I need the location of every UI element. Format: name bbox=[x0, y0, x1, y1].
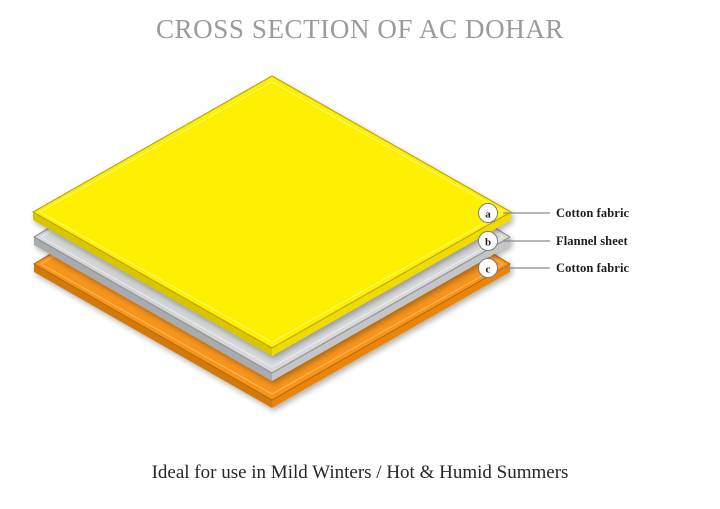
diagram-canvas: CROSS SECTION OF AC DOHAR bbox=[0, 0, 720, 509]
marker-badge-a: a bbox=[479, 204, 498, 223]
marker-badge-b: b bbox=[479, 232, 498, 251]
legend-label-c: Cotton fabric bbox=[556, 261, 629, 276]
legend-label-b: Flannel sheet bbox=[556, 234, 628, 249]
page-caption: Ideal for use in Mild Winters / Hot & Hu… bbox=[0, 462, 720, 484]
marker-badge-c: c bbox=[479, 259, 498, 278]
legend-label-a: Cotton fabric bbox=[556, 206, 629, 221]
marker-badge-a-letter: a bbox=[485, 209, 491, 221]
marker-badge-c-letter: c bbox=[486, 264, 491, 276]
layer-a-cotton-fabric-top bbox=[33, 76, 511, 356]
marker-badge-b-letter: b bbox=[485, 237, 491, 249]
layer-stack-illustration: a b c bbox=[0, 0, 720, 509]
